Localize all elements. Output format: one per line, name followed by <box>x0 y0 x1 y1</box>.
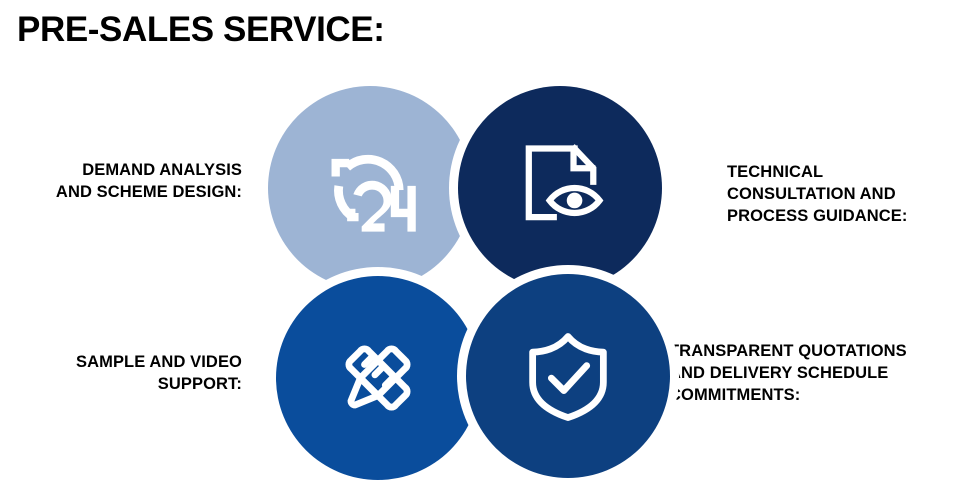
circle-cluster <box>268 86 672 482</box>
24-hour-rotate-icon <box>318 136 422 240</box>
label-sample-and-video: SAMPLE AND VIDEO SUPPORT: <box>76 352 242 396</box>
document-eye-icon <box>508 136 612 240</box>
circle-technical-consultation[interactable] <box>458 86 662 290</box>
label-line: COMMITMENTS: <box>669 385 907 407</box>
label-line: SAMPLE AND VIDEO <box>76 352 242 374</box>
circle-demand-analysis[interactable] <box>268 86 472 290</box>
label-technical-consultation: TECHNICAL CONSULTATION AND PROCESS GUIDA… <box>727 162 907 228</box>
label-line: SUPPORT: <box>76 374 242 396</box>
label-line: CONSULTATION AND <box>727 184 907 206</box>
label-transparent-quotations: TRANSPARENT QUOTATIONS AND DELIVERY SCHE… <box>669 341 907 407</box>
pen-ruler-icon <box>326 326 430 430</box>
label-demand-analysis: DEMAND ANALYSIS AND SCHEME DESIGN: <box>56 160 242 204</box>
circle-transparent-quotations[interactable] <box>466 274 670 478</box>
label-line: TECHNICAL <box>727 162 907 184</box>
label-line: AND DELIVERY SCHEDULE <box>669 363 907 385</box>
circle-sample-and-video[interactable] <box>276 276 480 480</box>
label-line: AND SCHEME DESIGN: <box>56 182 242 204</box>
page-title: PRE-SALES SERVICE: <box>17 9 385 50</box>
label-line: DEMAND ANALYSIS <box>56 160 242 182</box>
label-line: PROCESS GUIDANCE: <box>727 206 907 228</box>
label-line: TRANSPARENT QUOTATIONS <box>669 341 907 363</box>
shield-check-icon <box>516 324 620 428</box>
